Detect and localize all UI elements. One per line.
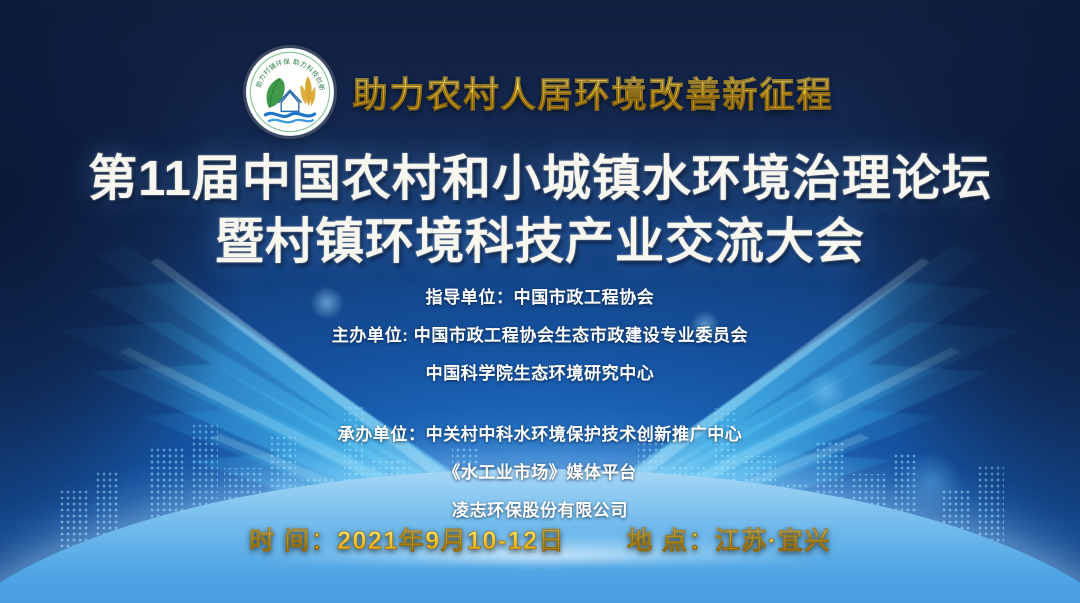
organizers-block: 指导单位：中国市政工程协会 主办单位: 中国市政工程协会生态市政建设专业委员会 … — [0, 289, 1080, 540]
organizer-line: 《水工业市场》媒体平台 — [0, 464, 1080, 481]
organizer-line: 主办单位: 中国市政工程协会生态市政建设专业委员会 — [0, 327, 1080, 344]
poster-footer: 时 间：2021年9月10-12日 地 点：江苏·宜兴 — [0, 521, 1080, 557]
village-environment-logo-icon: 助力村镇环保 助力科技创新 — [246, 48, 334, 136]
event-date: 时 间：2021年9月10-12日 — [249, 521, 565, 557]
poster-header: 助力村镇环保 助力科技创新 — [0, 48, 1080, 136]
organizer-line: 中国科学院生态环境研究中心 — [0, 365, 1080, 382]
title-line-1: 第11届中国农村和小城镇水环境治理论坛 — [0, 148, 1080, 211]
organizer-spacer — [0, 403, 1080, 426]
poster-title: 第11届中国农村和小城镇水环境治理论坛 暨村镇环境科技产业交流大会 — [0, 148, 1080, 273]
organizer-line: 承办单位：中关村中科水环境保护技术创新推广中心 — [0, 426, 1080, 443]
organizer-line: 凌志环保股份有限公司 — [0, 502, 1080, 519]
conference-poster: 助力村镇环保 助力科技创新 — [0, 0, 1080, 603]
organizer-line: 指导单位：中国市政工程协会 — [0, 289, 1080, 306]
event-location: 地 点：江苏·宜兴 — [627, 521, 831, 557]
title-line-2: 暨村镇环境科技产业交流大会 — [0, 211, 1080, 274]
poster-slogan: 助力农村人居环境改善新征程 — [352, 67, 833, 118]
